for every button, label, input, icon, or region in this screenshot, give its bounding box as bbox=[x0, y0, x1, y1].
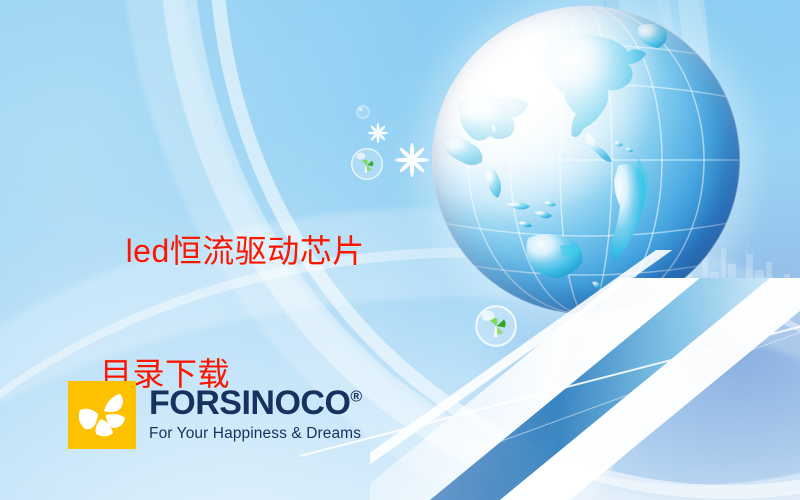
logo: FORSINOCO® For Your Happiness & Dreams bbox=[68, 381, 362, 449]
accent-stripe-2 bbox=[470, 315, 800, 453]
four-petal-pinwheel-icon bbox=[68, 381, 136, 449]
logo-text-block: FORSINOCO® For Your Happiness & Dreams bbox=[149, 381, 362, 443]
brand-word: FORSINOCO bbox=[149, 384, 350, 422]
headline: led恒流驱动芯片 目录下载 bbox=[88, 160, 365, 500]
bubble-pinwheel-small bbox=[356, 105, 370, 119]
accent-stripe-1 bbox=[300, 315, 800, 457]
sparkle-large bbox=[394, 142, 430, 178]
globe-icon bbox=[432, 6, 740, 314]
brand-tagline: For Your Happiness & Dreams bbox=[149, 425, 362, 443]
banner-canvas: led恒流驱动芯片 目录下载 FORSINOCO® For Your Happ bbox=[0, 0, 800, 500]
sparkle-small bbox=[367, 122, 389, 144]
globe-rim-shading bbox=[432, 6, 740, 314]
brand-name: FORSINOCO® bbox=[149, 386, 362, 420]
registered-mark: ® bbox=[350, 389, 362, 406]
headline-line-1: led恒流驱动芯片 bbox=[126, 233, 365, 269]
